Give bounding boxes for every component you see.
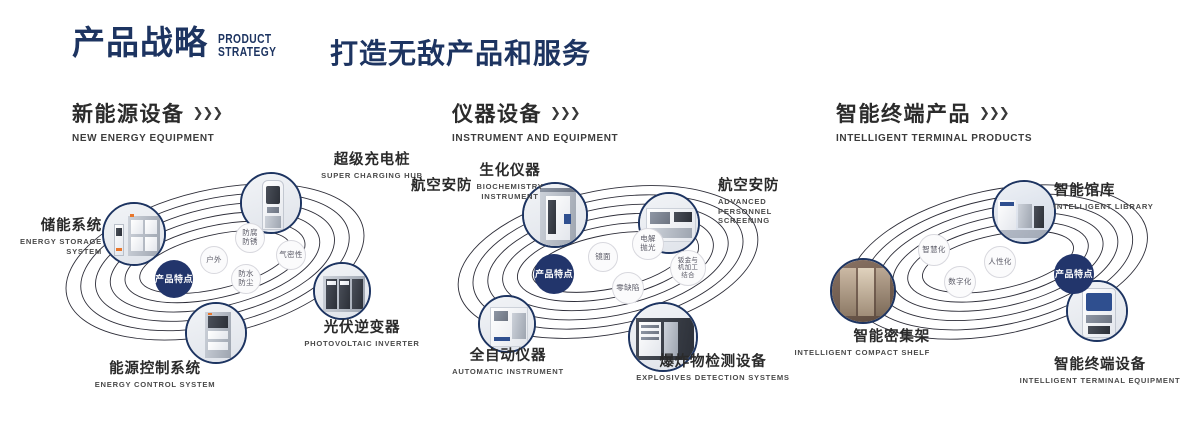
label-en: ADVANCED PERSONNEL SCREENING	[718, 197, 810, 227]
section-title-en: NEW ENERGY EQUIPMENT	[72, 133, 222, 144]
feature-label: 人性化	[988, 258, 1011, 267]
feature-bubble-1: 人性化	[984, 246, 1016, 278]
section-title-instrument: 仪器设备❯❯❯ INSTRUMENT AND EQUIPMENT	[452, 98, 618, 144]
node-automatic-instrument[interactable]	[478, 295, 536, 353]
label-cn: 爆炸物检测设备	[618, 354, 808, 371]
center-bubble-product-features: 产品特点	[155, 260, 193, 298]
feature-bubble-1: 防腐防锈	[235, 223, 265, 253]
label-en: EXPLOSIVES DETECTION SYSTEMS	[618, 373, 808, 383]
label-intelligent-library: 智能馆库 INTELLIGENT LIBRARY	[1054, 183, 1154, 212]
feature-bubble-0: 镜面	[588, 242, 618, 272]
node-intelligent-compact-shelf[interactable]	[830, 258, 896, 324]
feature-bubble-2: 气密性	[276, 240, 306, 270]
chevrons-right-icon: ❯❯❯	[550, 105, 580, 121]
diagram-new-energy: 产品特点 户外 防腐防锈 气密性 防水防尘	[40, 150, 420, 390]
label-cn: 能源控制系统	[70, 361, 240, 378]
page-title-en: PRODUCT STRATEGY	[218, 33, 276, 58]
feature-label: 电解抛光	[640, 235, 656, 252]
label-energy-control-system: 能源控制系统 ENERGY CONTROL SYSTEM	[70, 361, 240, 390]
page-title-cn: 产品战略	[72, 26, 208, 59]
label-super-charging-hub: 超级充电桩 SUPER CHARGING HUB	[292, 152, 452, 181]
section-title-en: INSTRUMENT AND EQUIPMENT	[452, 133, 618, 144]
node-photovoltaic-inverter[interactable]	[313, 262, 371, 320]
section-title-cn: 智能终端产品	[836, 98, 971, 128]
feature-label: 钣金与机加工结合	[676, 257, 700, 279]
label-automatic-instrument: 全自动仪器 AUTOMATIC INSTRUMENT	[418, 348, 598, 377]
node-intelligent-library[interactable]	[992, 180, 1056, 244]
chevrons-right-icon: ❯❯❯	[193, 105, 223, 121]
feature-bubble-1: 电解抛光	[632, 228, 664, 260]
label-en: INTELLIGENT LIBRARY	[1054, 202, 1154, 212]
section-title-cn: 新能源设备	[72, 98, 185, 128]
center-bubble-product-features: 产品特点	[1054, 254, 1094, 294]
node-energy-storage-system[interactable]	[102, 202, 166, 266]
chevrons-right-icon: ❯❯❯	[979, 105, 1009, 121]
feature-label: 智慧化	[922, 246, 945, 255]
control-cabinet-icon	[187, 304, 245, 362]
label-intelligent-terminal-equipment: 智能终端设备 INTELLIGENT TERMINAL EQUIPMENT	[1000, 357, 1200, 386]
feature-bubble-3: 零缺陷	[612, 272, 644, 304]
label-intelligent-compact-shelf: 智能密集架 INTELLIGENT COMPACT SHELF	[790, 329, 930, 358]
label-cn: 生化仪器	[445, 163, 575, 180]
section-title-cn: 仪器设备	[452, 98, 542, 128]
label-cn: 储能系统	[0, 218, 102, 235]
label-cn: 智能密集架	[790, 329, 930, 346]
compact-shelf-icon	[832, 260, 894, 322]
label-en: INTELLIGENT COMPACT SHELF	[790, 348, 930, 358]
feature-label: 数字化	[948, 278, 971, 287]
center-bubble-label: 产品特点	[535, 269, 573, 280]
feature-bubble-3: 防水防尘	[231, 264, 261, 294]
label-biochemistry-instrument: 生化仪器 BIOCHEMISTRY INSTRUMENT	[445, 163, 575, 201]
section-title-intelligent-terminal: 智能终端产品❯❯❯ INTELLIGENT TERMINAL PRODUCTS	[836, 98, 1032, 144]
feature-bubble-0: 户外	[200, 246, 228, 274]
label-energy-storage-system: 储能系统 ENERGY STORAGE SYSTEM	[0, 218, 102, 256]
feature-label: 户外	[206, 256, 222, 265]
page-slogan: 打造无敌产品和服务	[330, 32, 591, 72]
label-explosives-detection-systems: 爆炸物检测设备 EXPLOSIVES DETECTION SYSTEMS	[618, 354, 808, 383]
feature-label: 防腐防锈	[242, 229, 258, 246]
center-bubble-label: 产品特点	[155, 274, 193, 285]
automatic-instrument-icon	[480, 297, 534, 351]
page-title: 产品战略 PRODUCT STRATEGY	[72, 26, 289, 59]
label-cn: 航空安防	[718, 178, 810, 195]
label-cn: 全自动仪器	[418, 348, 598, 365]
label-en: BIOCHEMISTRY INSTRUMENT	[472, 182, 548, 202]
feature-label: 零缺陷	[616, 284, 639, 293]
node-energy-control-system[interactable]	[185, 302, 247, 364]
label-en: ENERGY CONTROL SYSTEM	[70, 380, 240, 390]
inverter-cabinet-icon	[315, 264, 369, 318]
feature-label: 镜面	[595, 253, 611, 262]
feature-label: 气密性	[279, 251, 302, 260]
feature-bubble-2: 数字化	[944, 266, 976, 298]
label-en: INTELLIGENT TERMINAL EQUIPMENT	[1000, 376, 1200, 386]
feature-bubble-2: 钣金与机加工结合	[670, 250, 706, 286]
label-en: ENERGY STORAGE SYSTEM	[0, 237, 102, 257]
page-title-en-line1: PRODUCT	[218, 33, 276, 46]
label-cn: 智能终端设备	[1000, 357, 1200, 374]
section-title-en: INTELLIGENT TERMINAL PRODUCTS	[836, 133, 1032, 144]
product-strategy-infographic: 产品战略 PRODUCT STRATEGY 打造无敌产品和服务 新能源设备❯❯❯…	[0, 0, 1200, 422]
library-room-icon	[994, 182, 1054, 242]
label-advanced-personnel-screening: 航空安防 ADVANCED PERSONNEL SCREENING	[718, 178, 810, 226]
section-title-new-energy: 新能源设备❯❯❯ NEW ENERGY EQUIPMENT	[72, 98, 222, 144]
label-en: AUTOMATIC INSTRUMENT	[418, 367, 598, 377]
center-bubble-label: 产品特点	[1055, 269, 1093, 280]
label-photovoltaic-inverter: 光伏逆变器 PHOTOVOLTAIC INVERTER	[282, 320, 442, 349]
energy-storage-cabinet-icon	[104, 204, 164, 264]
label-cn: 光伏逆变器	[282, 320, 442, 337]
label-cn: 智能馆库	[1054, 183, 1154, 200]
page-title-en-line2: STRATEGY	[218, 46, 276, 59]
center-bubble-product-features: 产品特点	[534, 254, 574, 294]
feature-bubble-0: 智慧化	[918, 234, 950, 266]
feature-label: 防水防尘	[238, 270, 254, 287]
label-cn: 超级充电桩	[292, 152, 452, 169]
